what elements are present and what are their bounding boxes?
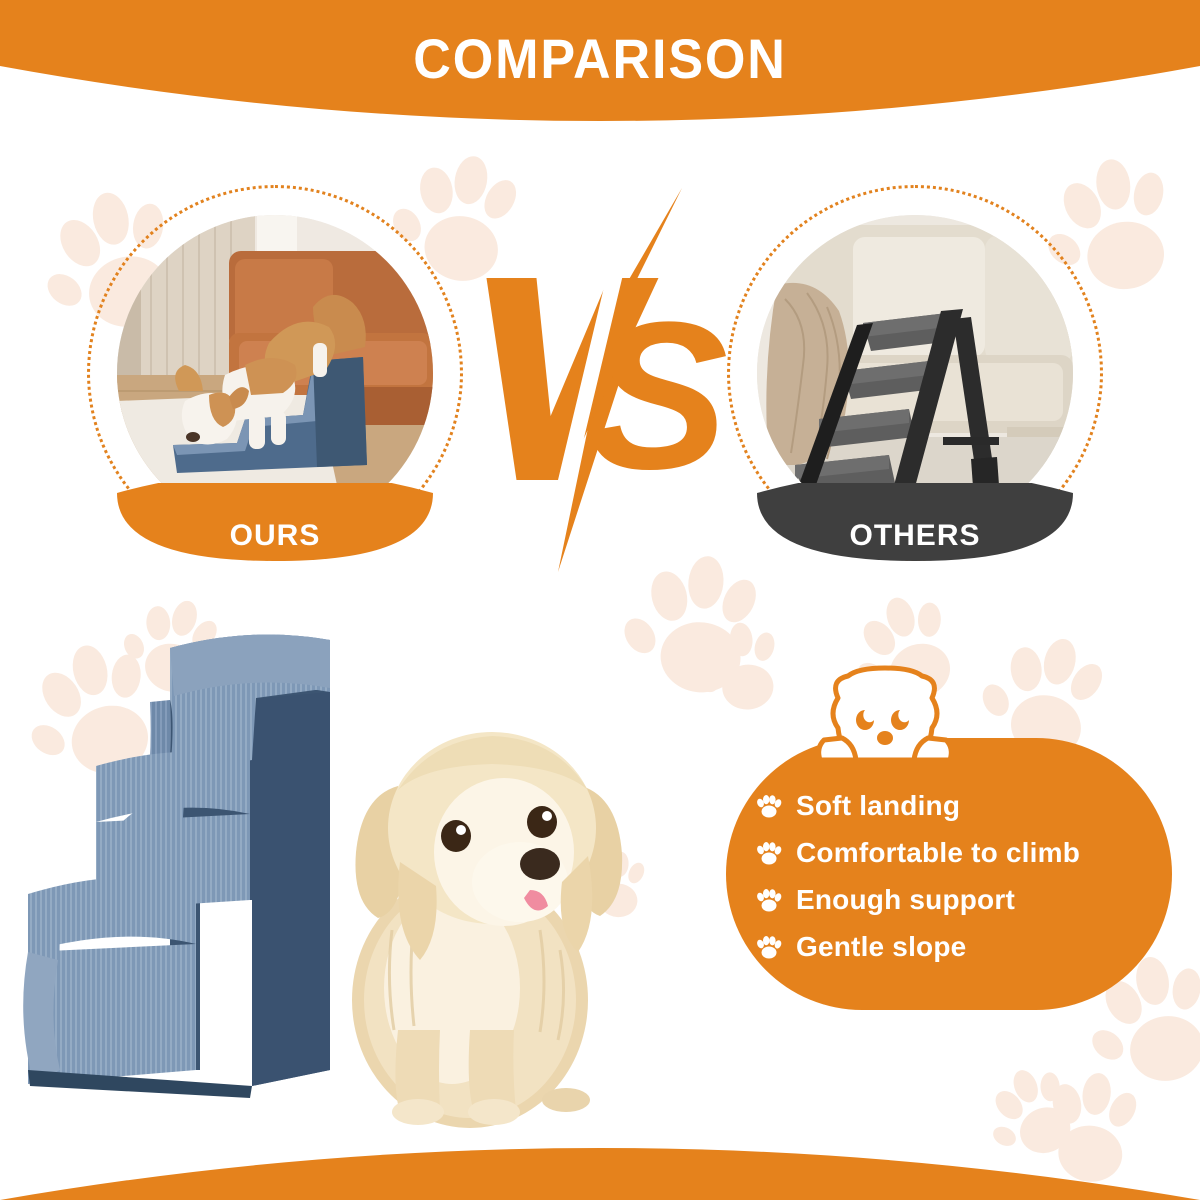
feature-item[interactable]: Enough support [756, 876, 1186, 923]
bottom-wave-decoration [0, 1090, 1200, 1200]
feature-label: Comfortable to climb [796, 837, 1080, 869]
feature-label: Soft landing [796, 790, 960, 822]
paw-icon [756, 794, 782, 818]
feature-label: Gentle slope [796, 931, 966, 963]
feature-item[interactable]: Soft landing [756, 782, 1186, 829]
page-title: COMPARISON [42, 26, 1158, 91]
features-list: Soft landing Comfortable to climb Enough [756, 782, 1186, 970]
feature-item[interactable]: Gentle slope [756, 923, 1186, 970]
feature-item[interactable]: Comfortable to climb [756, 829, 1186, 876]
paw-icon [756, 935, 782, 959]
paw-icon [756, 888, 782, 912]
versus-graphic: S [470, 180, 730, 580]
paw-icon [756, 841, 782, 865]
product-photo [0, 600, 760, 1140]
label-ours: OURS [87, 519, 463, 553]
comparison-card-ours[interactable]: OURS [87, 185, 463, 561]
label-others: OTHERS [727, 519, 1103, 553]
comparison-card-others[interactable]: OTHERS [727, 185, 1103, 561]
dog-peek-icon [808, 664, 962, 770]
feature-label: Enough support [796, 884, 1015, 916]
